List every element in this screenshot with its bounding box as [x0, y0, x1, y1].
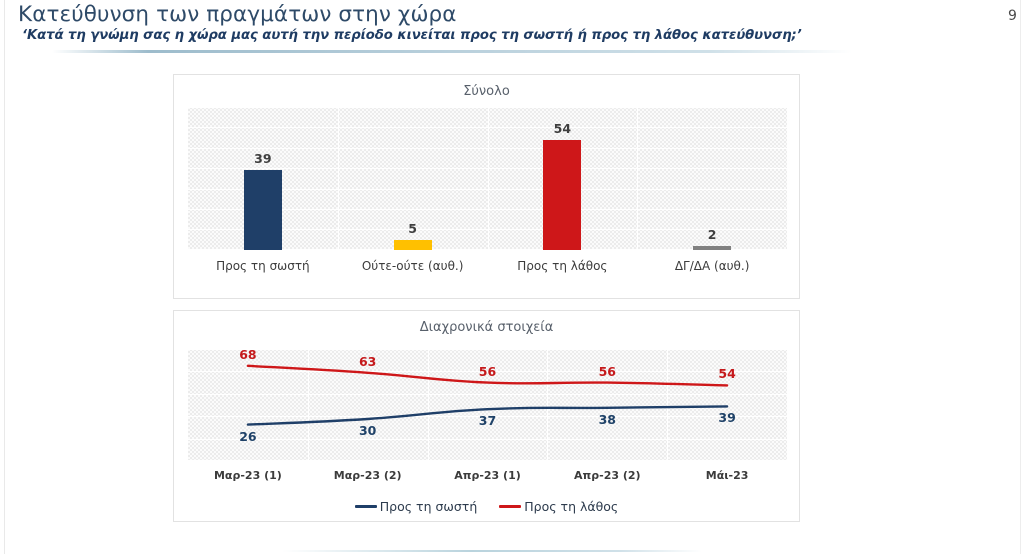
legend-label: Προς τη σωστή	[380, 499, 477, 514]
chart-title-trend: Διαχρονικά στοιχεία	[174, 320, 799, 335]
bar-value-label: 54	[532, 121, 592, 136]
x-axis-label: Μαρ-23 (2)	[308, 469, 428, 482]
line-value-label: 56	[458, 364, 518, 379]
bar-value-label: 5	[383, 221, 443, 236]
chart-panel-trend: Διαχρονικά στοιχεία 68 63 56 56 54 26 30…	[173, 310, 800, 522]
bar-proc-sosti	[244, 170, 282, 250]
page-title: Κατεύθυνση των πραγμάτων στην χώρα	[18, 2, 457, 27]
legend-item-sosti[interactable]: Προς τη σωστή	[355, 499, 477, 514]
legend-swatch-red-icon	[499, 505, 521, 508]
line-value-label: 56	[577, 364, 637, 379]
line-value-label: 39	[697, 410, 757, 425]
slide-canvas: Κατεύθυνση των πραγμάτων στην χώρα ‘Κατά…	[0, 0, 1024, 554]
page-subtitle: ‘Κατά τη γνώμη σας η χώρα μας αυτή την π…	[22, 28, 802, 43]
footer-divider	[282, 550, 702, 552]
x-axis-label: Μάι-23	[667, 469, 787, 482]
line-value-label: 30	[338, 423, 398, 438]
legend-swatch-blue-icon	[355, 505, 377, 508]
slide-header: Κατεύθυνση των πραγμάτων στην χώρα ‘Κατά…	[0, 0, 1024, 62]
legend-label: Προς τη λάθος	[524, 499, 618, 514]
line-value-label: 68	[218, 347, 278, 362]
bar-category-label: Ούτε-ούτε (αυθ.)	[333, 259, 493, 273]
line-value-label: 54	[697, 366, 757, 381]
bar-value-label: 2	[682, 227, 742, 242]
slide-right-edge	[1020, 0, 1021, 554]
slide-left-edge	[4, 0, 5, 554]
bar-proc-lathos	[543, 140, 581, 250]
line-value-label: 63	[338, 354, 398, 369]
chart-title-total: Σύνολο	[174, 84, 799, 99]
line-value-label: 37	[458, 413, 518, 428]
x-axis-label: Απρ-23 (1)	[428, 469, 548, 482]
slide-number: 9	[1008, 8, 1018, 24]
legend-item-lathos[interactable]: Προς τη λάθος	[499, 499, 618, 514]
bar-category-label: Προς τη σωστή	[183, 259, 343, 273]
bar-category-label: Προς τη λάθος	[482, 259, 642, 273]
title-divider	[52, 50, 852, 53]
bar-category-label: ΔΓ/ΔΑ (αυθ.)	[632, 259, 792, 273]
x-axis-label: Μαρ-23 (1)	[188, 469, 308, 482]
line-value-label: 38	[577, 412, 637, 427]
x-axis-label: Απρ-23 (2)	[547, 469, 667, 482]
bar-dg-da	[693, 246, 731, 250]
bar-value-label: 39	[233, 151, 293, 166]
chart-panel-total: Σύνολο 39 5 54 2 Προς τη σωστή Ούτε-ούτε…	[173, 74, 800, 299]
chart-legend: Προς τη σωστή Προς τη λάθος	[174, 499, 799, 514]
bar-oute-oute	[394, 240, 432, 250]
line-value-label: 26	[218, 429, 278, 444]
